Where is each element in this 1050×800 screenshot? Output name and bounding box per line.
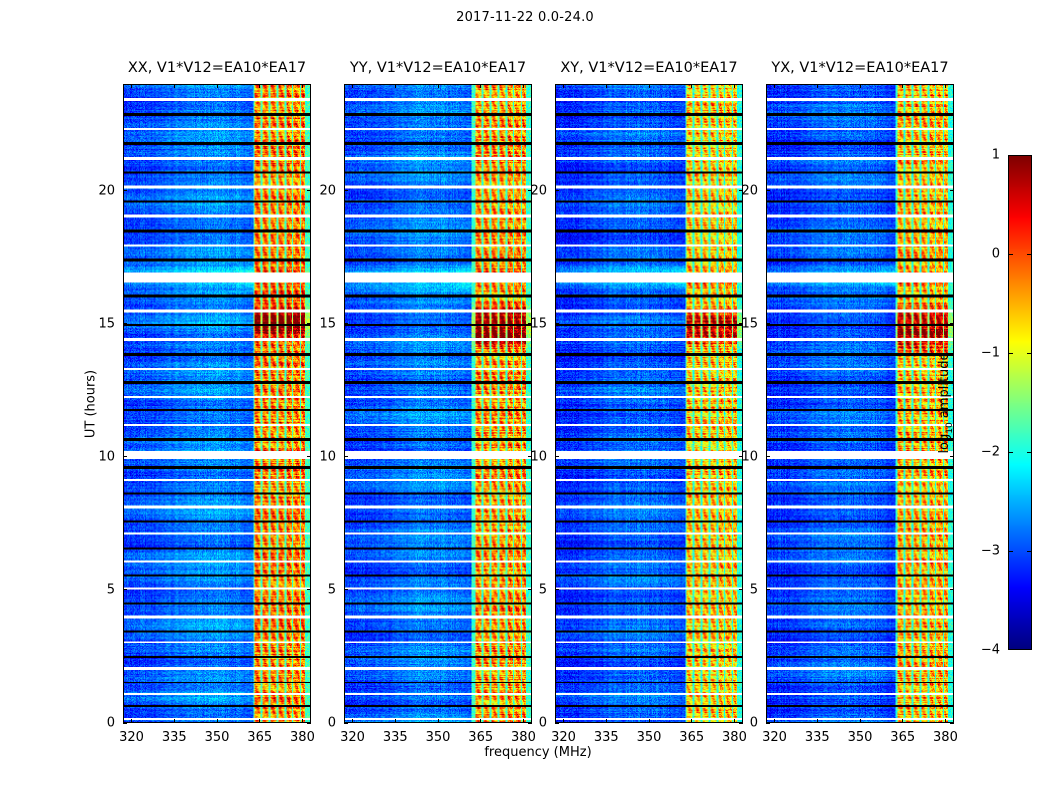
- panel-title-xx: XX, V1*V12=EA10*EA17: [93, 60, 341, 76]
- waterfall-image-xy: [556, 85, 742, 722]
- x-tick-label: 365: [881, 730, 925, 745]
- y-tick-label: 20: [511, 183, 547, 198]
- x-tick-mark: [691, 84, 692, 88]
- x-tick-mark: [480, 719, 481, 723]
- x-tick-label: 320: [753, 730, 797, 745]
- y-tick-mark: [555, 589, 559, 590]
- x-tick-label: 380: [712, 730, 756, 745]
- y-tick-label: 15: [722, 316, 758, 331]
- colorbar-gradient: [1009, 156, 1031, 649]
- x-tick-label: 335: [152, 730, 196, 745]
- y-tick-label: 10: [300, 449, 336, 464]
- x-tick-mark: [902, 84, 903, 88]
- x-tick-mark: [523, 84, 524, 88]
- colorbar-title-suffix: amplitude: [937, 352, 952, 422]
- y-tick-mark: [950, 190, 954, 191]
- x-tick-mark: [734, 84, 735, 88]
- x-axis-label: frequency (MHz): [438, 745, 638, 760]
- x-tick-mark: [860, 719, 861, 723]
- x-tick-mark: [131, 719, 132, 723]
- panel-title-yx: YX, V1*V12=EA10*EA17: [736, 60, 984, 76]
- y-tick-label: 15: [79, 316, 115, 331]
- y-tick-mark: [766, 456, 770, 457]
- y-tick-label: 0: [300, 716, 336, 731]
- x-tick-mark: [649, 719, 650, 723]
- x-tick-label: 335: [795, 730, 839, 745]
- y-tick-mark: [123, 323, 127, 324]
- x-tick-mark: [174, 719, 175, 723]
- colorbar-tick-label: 1: [966, 148, 1000, 163]
- x-tick-mark: [817, 84, 818, 88]
- x-tick-mark: [774, 719, 775, 723]
- y-tick-label: 15: [511, 316, 547, 331]
- heatmap-panel-yy[interactable]: [344, 84, 532, 723]
- x-tick-mark: [563, 84, 564, 88]
- y-tick-mark: [950, 456, 954, 457]
- y-tick-label: 20: [300, 183, 336, 198]
- x-tick-mark: [817, 719, 818, 723]
- y-tick-mark: [950, 723, 954, 724]
- y-tick-mark: [123, 589, 127, 590]
- x-tick-mark: [217, 84, 218, 88]
- y-tick-mark: [766, 323, 770, 324]
- colorbar-tick-label: −1: [966, 346, 1000, 361]
- x-tick-mark: [438, 84, 439, 88]
- x-tick-mark: [259, 719, 260, 723]
- x-tick-label: 380: [501, 730, 545, 745]
- x-tick-label: 335: [584, 730, 628, 745]
- x-tick-mark: [945, 719, 946, 723]
- colorbar-tick-mark: [1008, 452, 1013, 453]
- colorbar-tick-mark: [1008, 551, 1013, 552]
- x-tick-label: 320: [110, 730, 154, 745]
- y-tick-mark: [555, 190, 559, 191]
- x-tick-label: 320: [331, 730, 375, 745]
- x-tick-label: 350: [838, 730, 882, 745]
- x-tick-mark: [352, 84, 353, 88]
- x-tick-mark: [217, 719, 218, 723]
- x-tick-label: 380: [923, 730, 967, 745]
- heatmap-panel-xy[interactable]: [555, 84, 743, 723]
- y-tick-mark: [344, 589, 348, 590]
- x-tick-mark: [606, 84, 607, 88]
- colorbar-tick-label: −3: [966, 544, 1000, 559]
- y-tick-mark: [766, 589, 770, 590]
- y-tick-label: 5: [300, 582, 336, 597]
- y-tick-mark: [555, 323, 559, 324]
- y-tick-mark: [555, 723, 559, 724]
- y-tick-mark: [950, 323, 954, 324]
- y-tick-mark: [555, 456, 559, 457]
- y-tick-mark: [344, 190, 348, 191]
- x-tick-label: 365: [670, 730, 714, 745]
- x-tick-mark: [860, 84, 861, 88]
- y-tick-mark: [344, 323, 348, 324]
- y-tick-label: 0: [722, 716, 758, 731]
- x-tick-mark: [259, 84, 260, 88]
- colorbar-tick-mark: [1027, 452, 1032, 453]
- colorbar-title-prefix: log: [937, 433, 952, 453]
- x-tick-mark: [691, 719, 692, 723]
- x-tick-mark: [649, 84, 650, 88]
- colorbar-tick-mark: [1008, 254, 1013, 255]
- heatmap-panel-xx[interactable]: [123, 84, 311, 723]
- y-tick-label: 5: [79, 582, 115, 597]
- colorbar-tick-mark: [1027, 254, 1032, 255]
- y-tick-mark: [123, 190, 127, 191]
- y-tick-mark: [344, 456, 348, 457]
- heatmap-panel-yx[interactable]: [766, 84, 954, 723]
- waterfall-image-xx: [124, 85, 310, 722]
- colorbar-tick-mark: [1008, 353, 1013, 354]
- x-tick-label: 350: [195, 730, 239, 745]
- x-tick-mark: [395, 719, 396, 723]
- x-tick-label: 320: [542, 730, 586, 745]
- y-tick-label: 10: [722, 449, 758, 464]
- x-tick-label: 380: [280, 730, 324, 745]
- y-tick-mark: [766, 723, 770, 724]
- colorbar[interactable]: [1008, 155, 1032, 650]
- x-tick-label: 350: [416, 730, 460, 745]
- x-tick-mark: [395, 84, 396, 88]
- y-tick-label: 15: [300, 316, 336, 331]
- y-tick-label: 0: [511, 716, 547, 731]
- x-tick-mark: [302, 84, 303, 88]
- y-tick-mark: [766, 190, 770, 191]
- y-tick-mark: [344, 723, 348, 724]
- y-tick-label: 10: [79, 449, 115, 464]
- colorbar-tick-label: −4: [966, 643, 1000, 658]
- colorbar-tick-mark: [1027, 551, 1032, 552]
- y-tick-label: 10: [511, 449, 547, 464]
- waterfall-image-yx: [767, 85, 953, 722]
- waterfall-image-yy: [345, 85, 531, 722]
- x-tick-mark: [131, 84, 132, 88]
- x-tick-mark: [563, 719, 564, 723]
- x-tick-label: 350: [627, 730, 671, 745]
- y-tick-label: 20: [79, 183, 115, 198]
- x-tick-mark: [902, 719, 903, 723]
- x-tick-mark: [352, 719, 353, 723]
- y-tick-mark: [123, 456, 127, 457]
- x-tick-mark: [438, 719, 439, 723]
- figure-suptitle: 2017-11-22 0.0-24.0: [0, 10, 1050, 25]
- y-tick-mark: [123, 723, 127, 724]
- y-tick-label: 5: [511, 582, 547, 597]
- colorbar-tick-mark: [1027, 353, 1032, 354]
- y-tick-label: 20: [722, 183, 758, 198]
- y-tick-mark: [950, 589, 954, 590]
- colorbar-tick-label: 0: [966, 247, 1000, 262]
- colorbar-title: log10 amplitude: [937, 352, 955, 453]
- y-tick-label: 0: [79, 716, 115, 731]
- x-tick-label: 365: [238, 730, 282, 745]
- y-tick-label: 5: [722, 582, 758, 597]
- x-tick-mark: [480, 84, 481, 88]
- x-tick-mark: [174, 84, 175, 88]
- y-axis-label: UT (hours): [84, 370, 99, 438]
- x-tick-mark: [945, 84, 946, 88]
- colorbar-title-subscript: 10: [945, 422, 955, 433]
- x-tick-label: 335: [373, 730, 417, 745]
- x-tick-label: 365: [459, 730, 503, 745]
- x-tick-mark: [774, 84, 775, 88]
- x-tick-mark: [606, 719, 607, 723]
- colorbar-tick-label: −2: [966, 445, 1000, 460]
